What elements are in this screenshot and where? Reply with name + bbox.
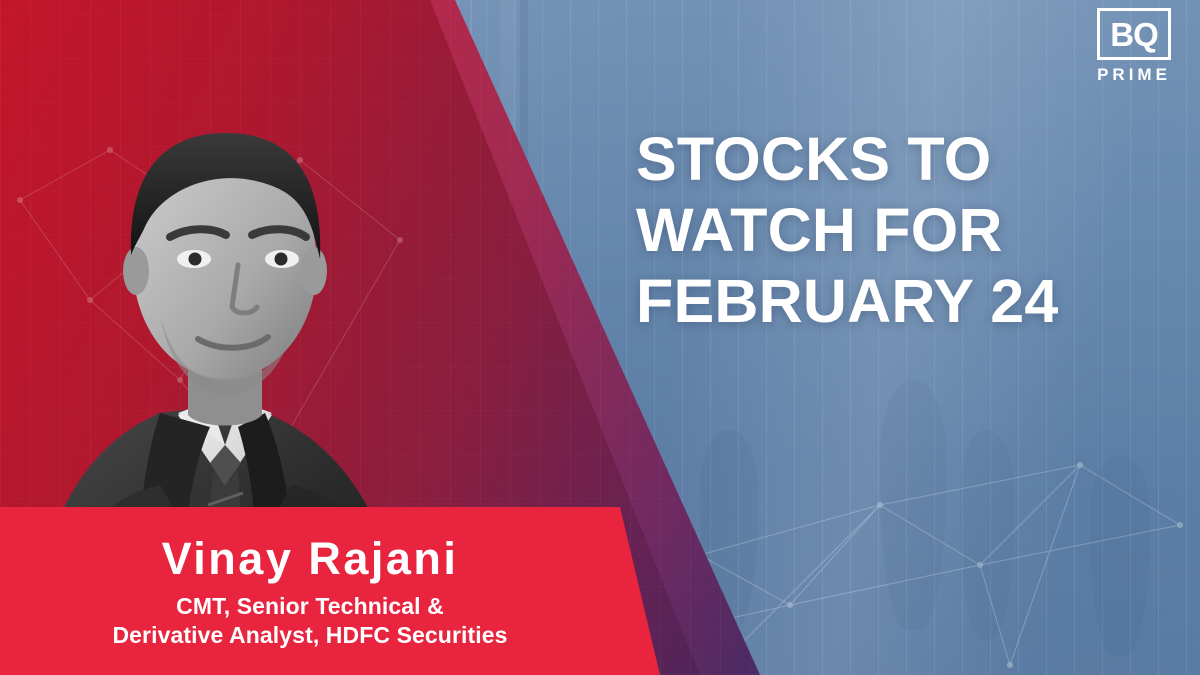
headline-line-2: WATCH FOR bbox=[636, 195, 1188, 266]
headline-line-3: FEBRUARY 24 bbox=[636, 266, 1188, 337]
speaker-title-line-2: Derivative Analyst, HDFC Securities bbox=[112, 621, 507, 650]
headline-line-1: STOCKS TO bbox=[636, 124, 1188, 195]
bq-prime-logo: BQ PRIME bbox=[1086, 8, 1182, 96]
speaker-title: CMT, Senior Technical & Derivative Analy… bbox=[112, 592, 507, 651]
video-thumbnail-card: STOCKS TO WATCH FOR FEBRUARY 24 Vinay Ra… bbox=[0, 0, 1200, 675]
speaker-nameplate: Vinay Rajani CMT, Senior Technical & Der… bbox=[0, 507, 660, 675]
page-title: STOCKS TO WATCH FOR FEBRUARY 24 bbox=[636, 124, 1188, 336]
logo-mark-icon: BQ bbox=[1097, 8, 1171, 60]
speaker-name: Vinay Rajani bbox=[162, 535, 459, 582]
speaker-title-line-1: CMT, Senior Technical & bbox=[112, 592, 507, 621]
logo-subtext: PRIME bbox=[1097, 65, 1171, 85]
logo-mark-text: BQ bbox=[1110, 18, 1158, 51]
